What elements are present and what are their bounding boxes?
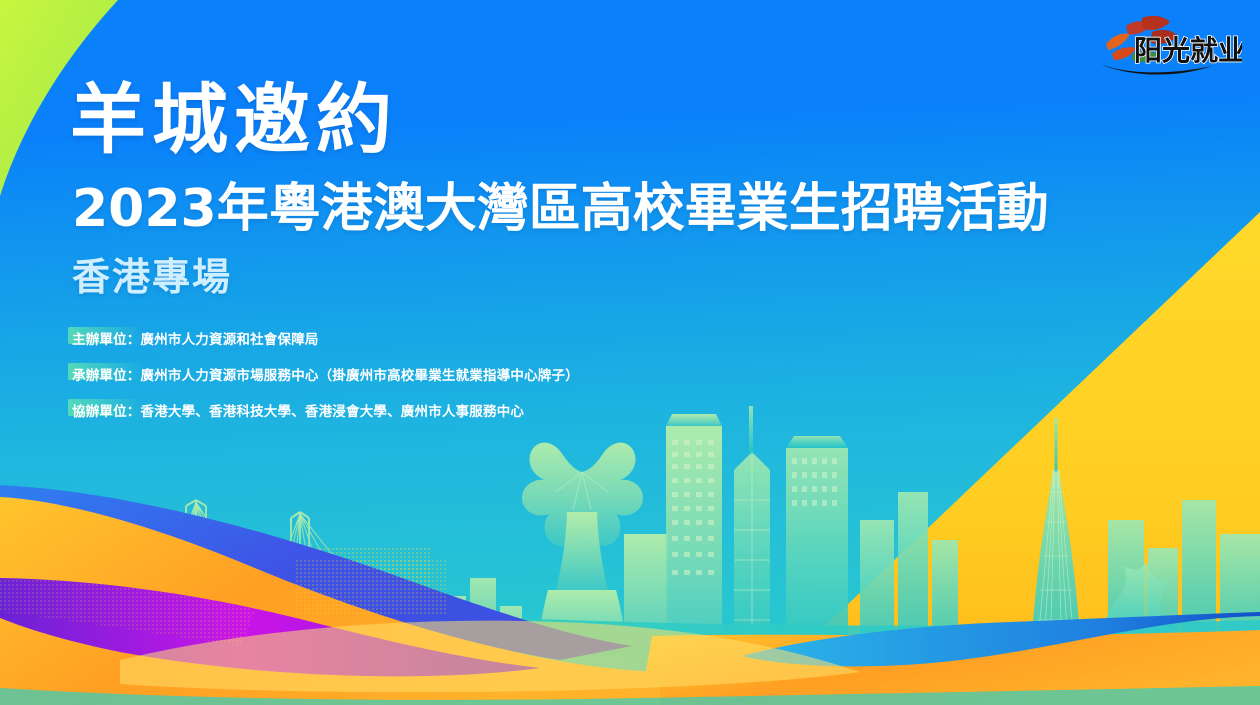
- organizer-row-host: 主辦單位：廣州市人力資源和社會保障局: [72, 328, 932, 348]
- organizer-row-coorganizer: 協辦單位：香港大學、香港科技大學、香港浸會大學、廣州市人事服務中心: [72, 400, 932, 420]
- page-title: 羊城邀約: [70, 82, 398, 158]
- logo-artwork: 阳光就业: [1082, 8, 1242, 78]
- session-title: 香港專場: [72, 258, 232, 298]
- logo-text: 阳光就业: [1134, 34, 1242, 67]
- organizer-label: 協辦單位：: [72, 404, 141, 420]
- organizer-value: 香港大學、香港科技大學、香港浸會大學、廣州市人事服務中心: [141, 404, 525, 420]
- organizer-block: 主辦單位：廣州市人力資源和社會保障局 承辦單位：廣州市人力資源市場服務中心（掛廣…: [72, 328, 932, 420]
- poster-content: 阳光就业 羊城邀約 2023年粵港澳大灣區高校畢業生招聘活動 香港專場 主辦單位…: [0, 0, 1260, 705]
- poster-canvas: 阳光就业 羊城邀約 2023年粵港澳大灣區高校畢業生招聘活動 香港專場 主辦單位…: [0, 0, 1260, 705]
- organizer-label: 主辦單位：: [72, 332, 141, 348]
- organizer-label: 承辦單位：: [72, 368, 141, 384]
- organizer-value: 廣州市人力資源市場服務中心（掛廣州市高校畢業生就業指導中心牌子）: [141, 368, 579, 384]
- page-subtitle: 2023年粵港澳大灣區高校畢業生招聘活動: [72, 182, 1049, 237]
- organizer-value: 廣州市人力資源和社會保障局: [141, 332, 319, 348]
- organizer-row-operator: 承辦單位：廣州市人力資源市場服務中心（掛廣州市高校畢業生就業指導中心牌子）: [72, 364, 932, 384]
- sunshine-employment-logo: 阳光就业: [1082, 8, 1242, 78]
